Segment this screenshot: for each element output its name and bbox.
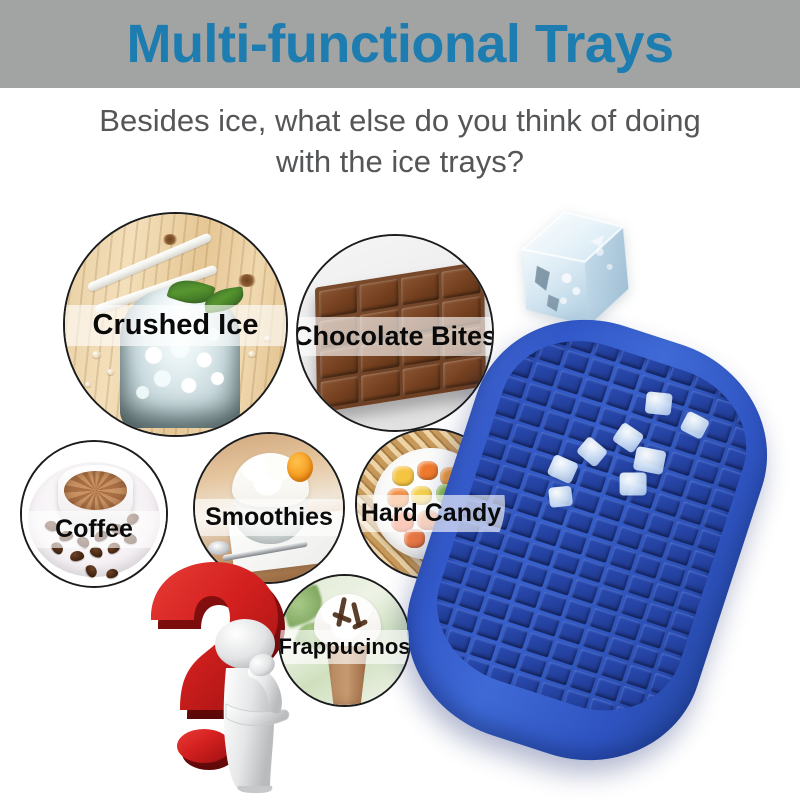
- chocolate-square: [442, 265, 480, 298]
- tray-cell: [606, 636, 634, 661]
- tray-cell: [503, 534, 531, 559]
- tray-cell: [489, 575, 517, 600]
- tray-cell: [581, 378, 609, 403]
- tray-cell: [593, 677, 621, 702]
- tray-cell: [525, 383, 553, 408]
- tray-cell: [518, 403, 546, 428]
- page-title: Multi-functional Trays: [126, 17, 673, 71]
- tray-cell: [678, 500, 706, 525]
- tray-cell: [711, 398, 739, 423]
- latte-art: [64, 471, 127, 510]
- wood-knot-icon: [237, 274, 257, 287]
- tray-cell: [691, 459, 719, 484]
- chocolate-square: [319, 285, 357, 318]
- tray-cell: [494, 645, 522, 670]
- tray-cell: [577, 558, 605, 583]
- use-case-chocolate-bites[interactable]: Chocolate Bites: [296, 234, 494, 432]
- chocolate-square: [444, 356, 482, 389]
- tray-cell: [572, 489, 600, 514]
- tray-cell: [588, 607, 616, 632]
- wood-knot-icon: [162, 234, 178, 245]
- chocolate-square: [321, 375, 359, 408]
- tray-cell: [525, 632, 553, 657]
- tray-cell: [539, 591, 567, 616]
- water-droplet-icon: [85, 382, 91, 387]
- tray-cell: [568, 669, 596, 694]
- tray-cell: [534, 522, 562, 547]
- tray-cell: [664, 541, 692, 566]
- tray-cell: [631, 644, 659, 669]
- tray-cell: [511, 424, 539, 449]
- tray-cell: [595, 587, 623, 612]
- spoon-bowl: [208, 541, 230, 555]
- chocolate-square: [403, 362, 441, 395]
- tray-cell: [469, 637, 497, 662]
- use-case-label-hard-candy: Hard Candy: [355, 495, 507, 532]
- tray-cell: [559, 530, 587, 555]
- chocolate-square: [401, 272, 439, 305]
- tray-cell: [445, 629, 473, 654]
- tray-cell: [483, 596, 511, 621]
- use-case-label-crushed-ice: Crushed Ice: [63, 305, 288, 346]
- tray-cell: [507, 604, 535, 629]
- tray-cell: [496, 555, 524, 580]
- tray-cell: [640, 533, 668, 558]
- tray-cell: [544, 661, 572, 686]
- tray-cell: [516, 493, 544, 518]
- tray-cell: [514, 583, 542, 608]
- tray-cell: [574, 399, 602, 424]
- tray-cell: [590, 517, 618, 542]
- tray-cell: [608, 546, 636, 571]
- tray-cell: [660, 472, 688, 497]
- tray-cell: [458, 588, 486, 613]
- tray-cell: [538, 342, 566, 367]
- tray-cell: [498, 465, 526, 490]
- tray-cell: [624, 665, 652, 690]
- product-infographic: Multi-functional Trays Besides ice, what…: [0, 0, 800, 800]
- subtitle: Besides ice, what else do you think of d…: [50, 100, 750, 182]
- use-case-label-coffee: Coffee: [20, 511, 168, 548]
- orange-slice-icon: [287, 452, 313, 482]
- tray-cell: [523, 473, 551, 498]
- subtitle-line-2: with the ice trays?: [50, 141, 750, 182]
- tray-cell: [653, 492, 681, 517]
- tray-cell: [666, 451, 694, 476]
- tray-cell: [549, 391, 577, 416]
- use-case-label-frappucinos: Frappucinos: [278, 630, 411, 664]
- tray-cell: [513, 334, 541, 359]
- tray-cell: [531, 362, 559, 387]
- tray-cell: [644, 603, 672, 628]
- tray-cell: [545, 571, 573, 596]
- tray-cell: [633, 554, 661, 579]
- tray-cell: [615, 525, 643, 550]
- tray-cell: [476, 616, 504, 641]
- tray-cell: [521, 563, 549, 588]
- tray-cell: [658, 562, 686, 587]
- tray-cell: [648, 423, 676, 448]
- tray-cell: [565, 509, 593, 534]
- chocolate-square: [360, 278, 398, 311]
- tray-cell: [612, 366, 640, 391]
- tray-cell: [471, 547, 499, 572]
- use-case-label-chocolate-bites: Chocolate Bites: [296, 317, 494, 356]
- use-case-crushed-ice[interactable]: Crushed Ice: [63, 212, 288, 437]
- tray-cell: [505, 444, 533, 469]
- tray-cell: [620, 595, 648, 620]
- tray-cell: [465, 567, 493, 592]
- tray-cell: [638, 623, 666, 648]
- water-droplet-icon: [107, 369, 114, 375]
- tray-cell: [570, 579, 598, 604]
- tray-cell: [742, 385, 765, 410]
- tray-cell: [582, 628, 610, 653]
- tray-cell: [519, 653, 547, 678]
- loose-ice-cube: [619, 473, 646, 496]
- candy-piece: [417, 461, 438, 480]
- tray-cell: [651, 582, 679, 607]
- tray-cell: [584, 538, 612, 563]
- use-case-label-smoothies: Smoothies: [193, 499, 345, 536]
- tray-cell: [543, 411, 571, 436]
- chocolate-square: [362, 369, 400, 402]
- tray-cell: [626, 574, 654, 599]
- tray-cell: [605, 386, 633, 411]
- tray-cell: [536, 432, 564, 457]
- tray-cell: [564, 599, 592, 624]
- header-band: Multi-functional Trays: [0, 0, 800, 88]
- tray-cell: [509, 514, 537, 539]
- tray-cell: [597, 497, 625, 522]
- tray-cell: [613, 615, 641, 640]
- tray-cell: [671, 521, 699, 546]
- tray-cell: [451, 608, 479, 633]
- tray-cell: [622, 505, 650, 530]
- tray-cell: [646, 513, 674, 538]
- loose-ice-cube: [644, 391, 672, 416]
- tray-cell: [501, 624, 529, 649]
- tray-cell: [557, 620, 585, 645]
- tray-cell: [602, 566, 630, 591]
- tray-cell: [563, 350, 591, 375]
- tray-cell: [618, 685, 646, 710]
- tray-cell: [684, 480, 712, 505]
- tray-cell: [552, 550, 580, 575]
- tray-cell: [579, 468, 607, 493]
- tray-cell: [556, 370, 584, 395]
- subtitle-line-1: Besides ice, what else do you think of d…: [50, 100, 750, 141]
- tray-cell: [587, 358, 615, 383]
- water-droplet-icon: [92, 351, 101, 358]
- tray-cell: [527, 542, 555, 567]
- tray-cell: [532, 612, 560, 637]
- tray-cell: [550, 640, 578, 665]
- loose-ice-cube: [548, 485, 573, 507]
- tray-cell: [600, 656, 628, 681]
- tray-cell: [698, 439, 726, 464]
- candy-piece: [392, 466, 414, 486]
- tray-cell: [575, 648, 603, 673]
